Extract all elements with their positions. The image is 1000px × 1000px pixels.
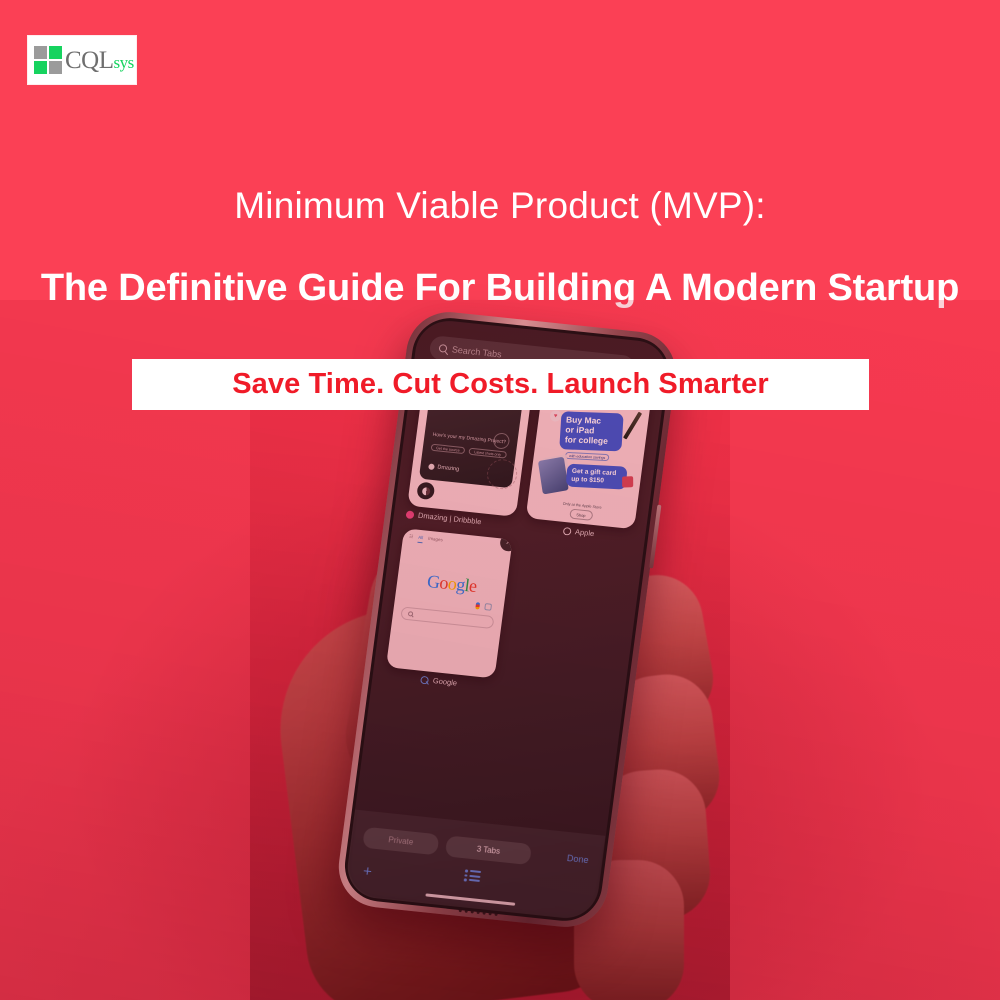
- shot-logo-mark: [428, 463, 435, 470]
- brand-logo[interactable]: CQLsys: [28, 36, 136, 84]
- google-lens-icon[interactable]: [484, 603, 492, 611]
- tab-card-google[interactable]: × ☷ All Images Google: [384, 528, 512, 691]
- poster-canvas: CQLsys Minimum Viable Product (MVP): The…: [0, 0, 1000, 1000]
- apple-offer-bubble: Get a gift card up to $150: [566, 464, 628, 490]
- google-nav-bar: ☷ All Images: [402, 528, 513, 555]
- google-nav-all[interactable]: All: [418, 534, 424, 541]
- tagline-banner: Save Time. Cut Costs. Launch Smarter: [132, 359, 869, 410]
- google-input-icons: [475, 602, 492, 611]
- avatar: [416, 481, 435, 500]
- microphone-icon[interactable]: [475, 602, 480, 609]
- apple-headline-3: for college: [565, 434, 609, 445]
- apple-promo-art: ♥ Buy Mac or iPad for college with educa…: [534, 395, 645, 499]
- headline-line-1: Minimum Viable Product (MVP):: [0, 186, 1000, 227]
- google-nav-images[interactable]: Images: [428, 535, 444, 543]
- search-tabs-placeholder: Search Tabs: [451, 344, 502, 359]
- brand-wordmark-suffix: sys: [114, 53, 134, 72]
- logo-square-bottom-right: [49, 61, 62, 74]
- gift-card-icon: [622, 476, 633, 487]
- tab-thumbnail-google[interactable]: × ☷ All Images Google: [386, 528, 513, 678]
- brand-wordmark-main: CQL: [65, 47, 114, 74]
- brand-wordmark: CQLsys: [65, 48, 134, 73]
- shot-logo-name: Dmazing: [437, 464, 459, 472]
- google-letter-e: e: [468, 575, 478, 596]
- apple-icon: [563, 526, 572, 535]
- tab-label-text: Apple: [575, 527, 595, 538]
- search-icon: [439, 344, 448, 353]
- google-icon: [421, 675, 430, 684]
- shot-pill-1: Get the source: [431, 444, 466, 454]
- google-search-input[interactable]: [400, 606, 494, 629]
- apple-offer-2: up to $150: [571, 475, 604, 484]
- logo-square-top-right: [49, 46, 62, 59]
- tab-label-text: Dmazing | Dribbble: [417, 511, 481, 527]
- logo-square-bottom-left: [34, 61, 47, 74]
- shot-pill-2: Latest shots only: [468, 448, 507, 459]
- search-icon: [408, 611, 414, 616]
- add-tab-button[interactable]: +: [362, 864, 373, 880]
- logo-square-top-left: [34, 46, 47, 59]
- apple-promo-headline: Buy Mac or iPad for college: [559, 411, 623, 451]
- home-indicator[interactable]: [425, 893, 515, 905]
- dribbble-icon: [406, 510, 415, 519]
- apple-pencil-icon: [623, 412, 642, 440]
- apple-education-note: with education savings: [565, 452, 610, 461]
- tab-list-icon[interactable]: [463, 867, 483, 884]
- tab-count-button[interactable]: 3 Tabs: [445, 835, 532, 865]
- four-square-grid-icon: [34, 46, 62, 74]
- shot-ring-decoration: [492, 432, 510, 450]
- tagline-text: Save Time. Cut Costs. Launch Smarter: [232, 368, 769, 401]
- tab-grid: × Dribbble How's your my Dmazing Proj: [384, 367, 652, 704]
- private-mode-button[interactable]: Private: [362, 827, 439, 856]
- grid-icon: ☷: [409, 534, 414, 540]
- shot-logo-row: Dmazing: [428, 463, 459, 472]
- shop-button[interactable]: Shop: [569, 508, 594, 520]
- tab-label-text: Google: [432, 676, 457, 687]
- google-wordmark: Google: [396, 568, 507, 600]
- ipad-illustration: [538, 457, 569, 495]
- done-button[interactable]: Done: [566, 853, 589, 865]
